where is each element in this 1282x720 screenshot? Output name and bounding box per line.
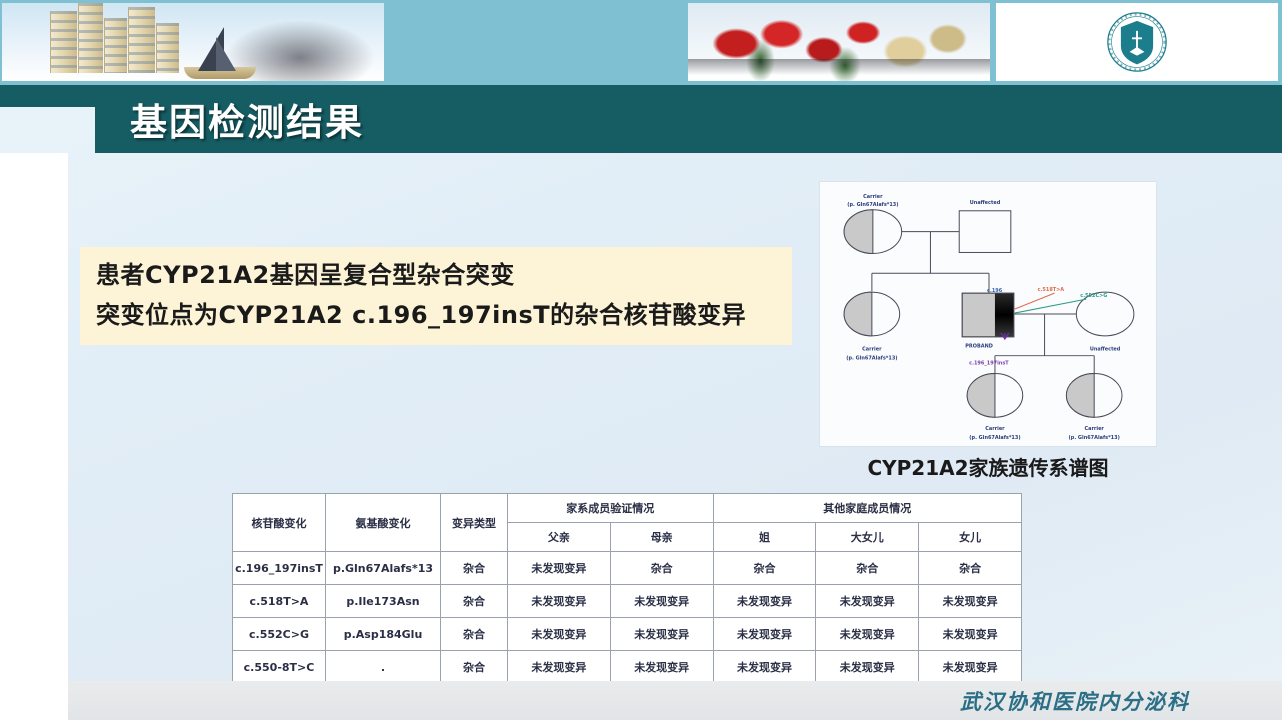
banner-teal-gap: [384, 0, 636, 85]
header-banner: [0, 0, 1282, 85]
col-elder-daughter: 大女儿: [816, 523, 919, 552]
slide: 基因检测结果 患者CYP21A2基因呈复合型杂合突变 突变位点为CYP21A2 …: [0, 0, 1282, 720]
svg-text:Carrier: Carrier: [862, 347, 882, 353]
cell-daughter: 杂合: [919, 552, 1022, 585]
cell-sister: 未发现变异: [713, 618, 816, 651]
cell-mother: 未发现变异: [610, 618, 713, 651]
cell-daughter: 未发现变异: [919, 618, 1022, 651]
cell-sister: 未发现变异: [713, 651, 816, 684]
cell-nucleotide: c.550-8T>C: [233, 651, 326, 684]
cell-father: 未发现变异: [508, 552, 611, 585]
cell-nucleotide: c.552C>G: [233, 618, 326, 651]
svg-text:c.518T>A: c.518T>A: [1038, 287, 1065, 293]
svg-text:(p. Gln67Alafs*13): (p. Gln67Alafs*13): [846, 356, 897, 362]
cell-nucleotide: c.196_197insT: [233, 552, 326, 585]
cell-elder-daughter: 未发现变异: [816, 585, 919, 618]
cell-variant-type: 杂合: [441, 618, 508, 651]
col-variant-type: 变异类型: [441, 494, 508, 552]
cell-amino-acid: .: [326, 651, 441, 684]
cell-daughter: 未发现变异: [919, 585, 1022, 618]
callout-line-2: 突变位点为CYP21A2 c.196_197insT的杂合核苷酸变异: [96, 296, 792, 336]
cell-elder-daughter: 未发现变异: [816, 618, 919, 651]
pedigree-caption: CYP21A2家族遗传系谱图: [819, 452, 1157, 481]
cell-amino-acid: p.Gln67Alafs*13: [326, 552, 441, 585]
table-header-row-1: 核苷酸变化 氨基酸变化 变异类型 家系成员验证情况 其他家庭成员情况: [233, 494, 1022, 523]
group-other-members: 其他家庭成员情况: [713, 494, 1021, 523]
svg-text:Carrier: Carrier: [985, 426, 1005, 432]
group-family-verification: 家系成员验证情况: [508, 494, 714, 523]
cell-sister: 杂合: [713, 552, 816, 585]
pedigree-chart: c.518T>A c.552C>G c.196 c.196_197insT Ca…: [819, 181, 1157, 447]
union-hospital-emblem-icon: [996, 3, 1278, 81]
footer-department-text: 武汉协和医院内分泌科: [960, 686, 1190, 716]
footer-bar: 武汉协和医院内分泌科: [68, 681, 1282, 720]
cell-elder-daughter: 未发现变异: [816, 651, 919, 684]
cell-father: 未发现变异: [508, 618, 611, 651]
svg-text:c.196: c.196: [987, 288, 1003, 294]
cell-mother: 未发现变异: [610, 585, 713, 618]
svg-text:Unaffected: Unaffected: [970, 200, 1001, 206]
cell-nucleotide: c.518T>A: [233, 585, 326, 618]
cell-variant-type: 杂合: [441, 651, 508, 684]
table-row: c.196_197insT p.Gln67Alafs*13 杂合 未发现变异 杂…: [233, 552, 1022, 585]
cell-variant-type: 杂合: [441, 552, 508, 585]
col-daughter: 女儿: [919, 523, 1022, 552]
svg-text:(p. Gln67Alafs*13): (p. Gln67Alafs*13): [969, 435, 1020, 441]
cell-daughter: 未发现变异: [919, 651, 1022, 684]
cell-amino-acid: p.Ile173Asn: [326, 585, 441, 618]
svg-text:PROBAND: PROBAND: [965, 344, 993, 350]
cell-father: 未发现变异: [508, 651, 611, 684]
table-row: c.552C>G p.Asp184Glu 杂合 未发现变异 未发现变异 未发现变…: [233, 618, 1022, 651]
col-father: 父亲: [508, 523, 611, 552]
cell-elder-daughter: 杂合: [816, 552, 919, 585]
title-bar: 基因检测结果: [95, 85, 1282, 153]
left-edge-band: [0, 153, 68, 720]
svg-text:c.552C>G: c.552C>G: [1080, 293, 1107, 299]
flower-photo-pane: [688, 3, 990, 81]
svg-text:Carrier: Carrier: [863, 194, 883, 200]
callout-line-1: 患者CYP21A2基因呈复合型杂合突变: [96, 256, 792, 296]
findings-callout: 患者CYP21A2基因呈复合型杂合突变 突变位点为CYP21A2 c.196_1…: [80, 247, 792, 345]
logo-pane: [996, 3, 1278, 81]
col-sister: 姐: [713, 523, 816, 552]
svg-text:Unaffected: Unaffected: [1090, 347, 1121, 353]
cell-father: 未发现变异: [508, 585, 611, 618]
cell-variant-type: 杂合: [441, 585, 508, 618]
cell-sister: 未发现变异: [713, 585, 816, 618]
floral-arrangement-photo: [688, 3, 990, 81]
svg-text:(p. Gln67Alafs*13): (p. Gln67Alafs*13): [847, 202, 898, 208]
col-mother: 母亲: [610, 523, 713, 552]
page-title: 基因检测结果: [130, 92, 364, 146]
svg-text:(p. Gln67Alafs*13): (p. Gln67Alafs*13): [1069, 435, 1120, 441]
cell-mother: 未发现变异: [610, 651, 713, 684]
svg-text:c.196_197insT: c.196_197insT: [969, 361, 1009, 367]
campus-photo-pane: [2, 3, 384, 81]
cell-mother: 杂合: [610, 552, 713, 585]
table-row: c.518T>A p.Ile173Asn 杂合 未发现变异 未发现变异 未发现变…: [233, 585, 1022, 618]
col-nucleotide: 核苷酸变化: [233, 494, 326, 552]
hospital-campus-photo: [2, 3, 384, 81]
table-row: c.550-8T>C . 杂合 未发现变异 未发现变异 未发现变异 未发现变异 …: [233, 651, 1022, 684]
cell-amino-acid: p.Asp184Glu: [326, 618, 441, 651]
col-amino-acid: 氨基酸变化: [326, 494, 441, 552]
svg-text:Carrier: Carrier: [1085, 426, 1105, 432]
variants-table: 核苷酸变化 氨基酸变化 变异类型 家系成员验证情况 其他家庭成员情况 父亲 母亲…: [232, 493, 1022, 684]
